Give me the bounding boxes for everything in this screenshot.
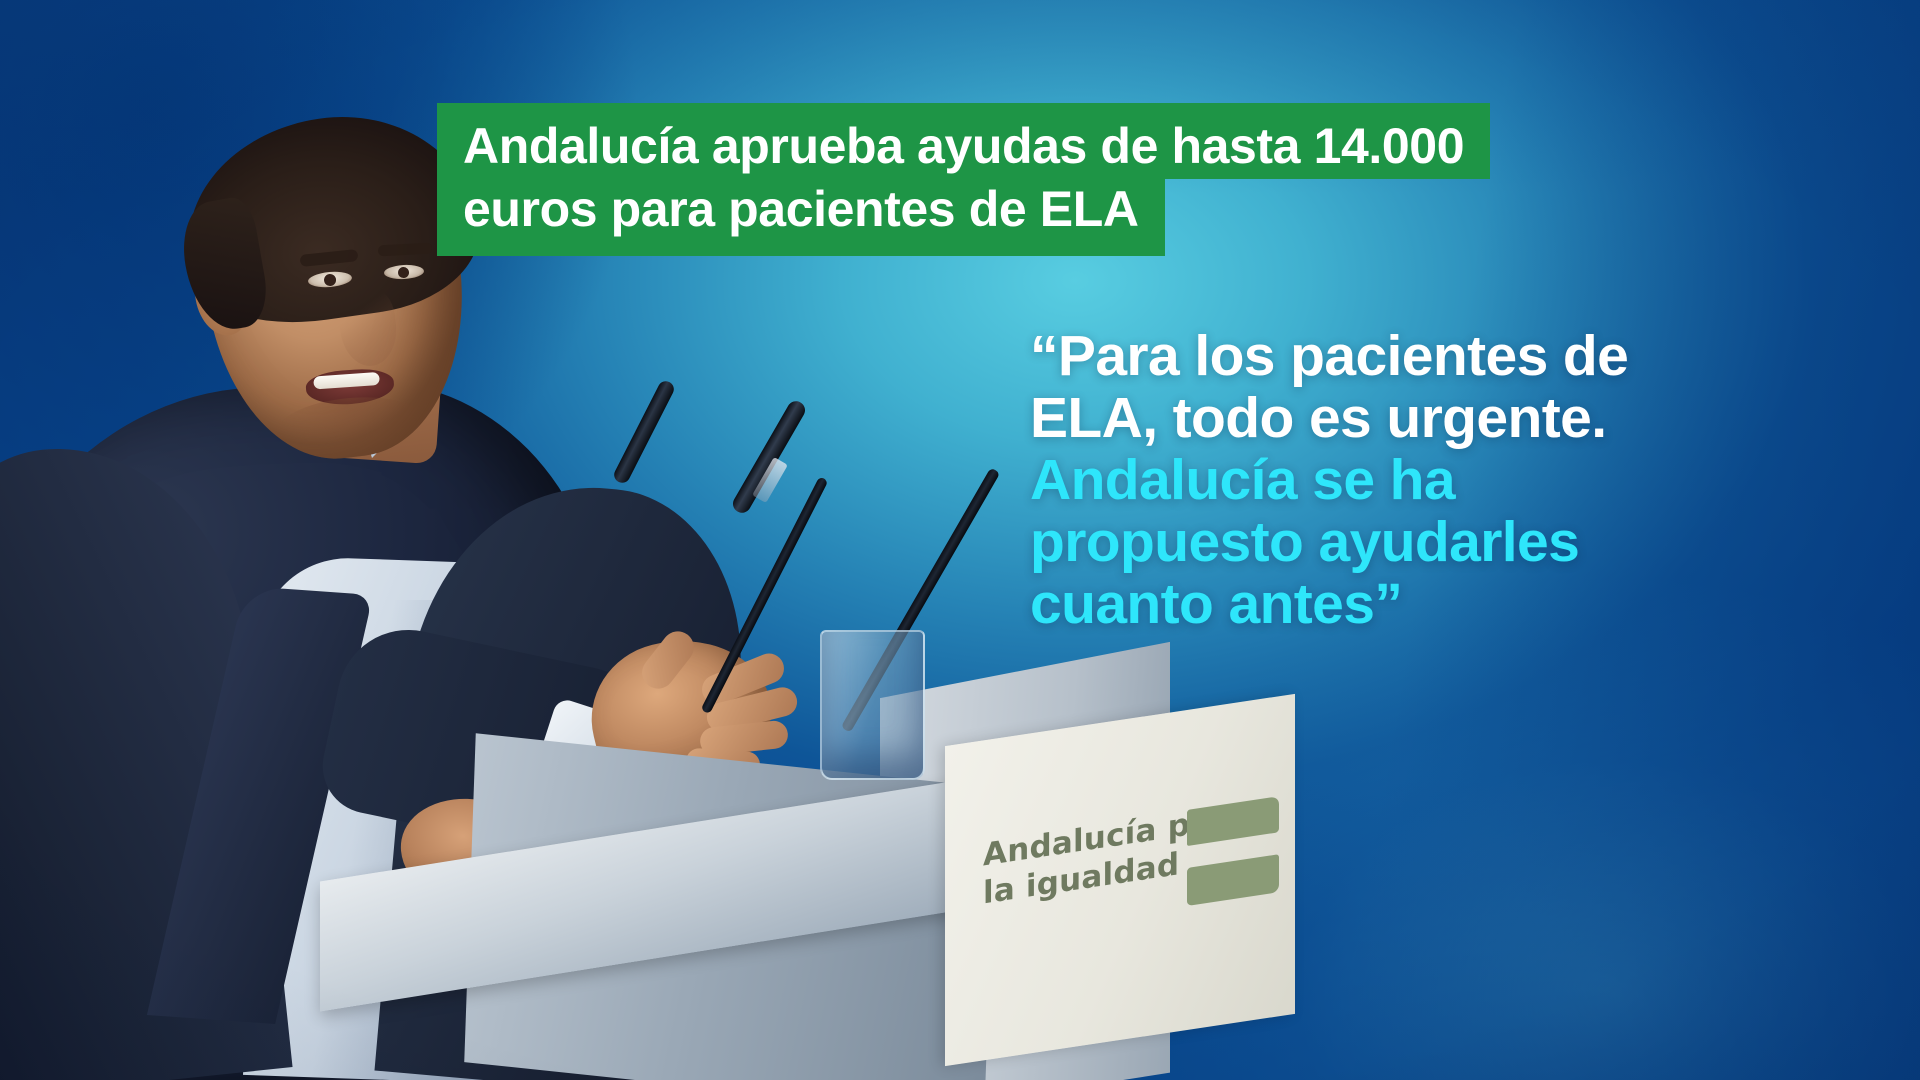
headline-line-1: Andalucía aprueba ayudas de hasta 14.000 xyxy=(437,103,1490,179)
headline-banner: Andalucía aprueba ayudas de hasta 14.000… xyxy=(437,103,1490,256)
quote-line-1: “Para los pacientes de xyxy=(1030,325,1860,387)
podium-sign: Andalucía por la igualdad xyxy=(945,694,1295,1066)
quote-line-2: ELA, todo es urgente. xyxy=(1030,387,1860,449)
andalusia-flag-icon xyxy=(1187,796,1279,906)
quote-line-4: propuesto ayudarles xyxy=(1030,511,1860,573)
pull-quote: “Para los pacientes de ELA, todo es urge… xyxy=(1030,325,1860,635)
flag-band-bottom xyxy=(1187,854,1279,906)
quote-line-3: Andalucía se ha xyxy=(1030,449,1860,511)
quote-line-5: cuanto antes” xyxy=(1030,573,1860,635)
headline-line-2: euros para pacientes de ELA xyxy=(437,179,1165,256)
water-glass xyxy=(820,630,925,780)
news-graphic-canvas: Andalucía por la igualdad Andalucía apru… xyxy=(0,0,1920,1080)
teeth xyxy=(313,372,380,390)
